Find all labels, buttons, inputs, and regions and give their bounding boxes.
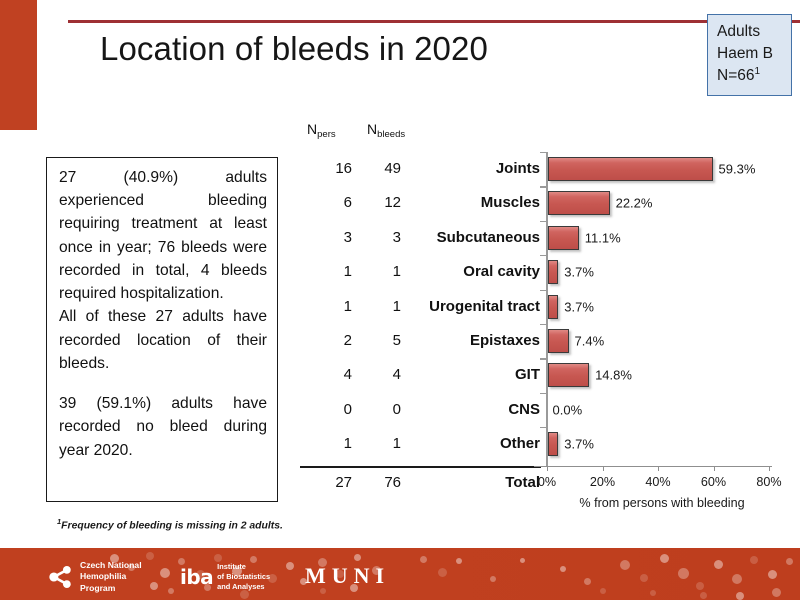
- bar-value-label: 3.7%: [564, 265, 594, 280]
- table-row: 11Other: [297, 435, 540, 469]
- slide: Location of bleeds in 2020 Adults Haem B…: [0, 0, 800, 600]
- decorative-dot: [560, 566, 566, 572]
- y-axis-tick: [540, 152, 547, 153]
- cell-npers: 0: [297, 401, 352, 418]
- bar-fill: [548, 295, 558, 319]
- bar-other: 3.7%: [548, 432, 558, 456]
- decorative-dot: [600, 588, 606, 594]
- decorative-dot: [700, 592, 707, 599]
- cell-nbleeds: 1: [359, 263, 401, 280]
- table-row: 1649Joints: [297, 160, 540, 194]
- decorative-dot: [650, 590, 656, 596]
- badge-line-2: Haem B: [717, 43, 791, 65]
- badge-line-3: N=661: [717, 65, 791, 87]
- bar-value-label: 14.8%: [595, 368, 632, 383]
- cell-category: GIT: [407, 366, 540, 383]
- bar-chart: 59.3%22.2%11.1%3.7%3.7%7.4%14.8%0.0%3.7%: [546, 152, 772, 467]
- x-axis-tick: [658, 466, 659, 471]
- table-row: 11Urogenital tract: [297, 298, 540, 332]
- accent-block: [0, 0, 37, 130]
- decorative-dot: [214, 554, 222, 562]
- logo1-line-1: Czech National: [80, 560, 142, 571]
- total-label: Total: [407, 474, 540, 491]
- logo1-line-2: Hemophilia: [80, 571, 142, 582]
- decorative-dot: [520, 558, 525, 563]
- decorative-dot: [168, 588, 174, 594]
- bar-joints: 59.3%: [548, 157, 713, 181]
- cell-npers: 2: [297, 332, 352, 349]
- bar-value-label: 11.1%: [585, 230, 621, 245]
- column-header-npers: Npers: [307, 121, 336, 137]
- bar-fill: [548, 329, 569, 353]
- logo2-line-3: and Analyses: [217, 582, 270, 592]
- bar-fill: [548, 432, 558, 456]
- logo1-text: Czech National Hemophilia Program: [80, 560, 142, 594]
- cohort-badge: Adults Haem B N=661: [707, 14, 792, 96]
- cell-category: CNS: [407, 401, 540, 418]
- x-axis-tick-label: 0%: [538, 475, 556, 489]
- decorative-dot: [420, 556, 427, 563]
- cell-category: Joints: [407, 160, 540, 177]
- bar-git: 14.8%: [548, 363, 589, 387]
- cell-nbleeds: 3: [359, 229, 401, 246]
- decorative-dot: [146, 552, 154, 560]
- footnote: 1Frequency of bleeding is missing in 2 a…: [57, 517, 283, 531]
- npers-subscript: pers: [317, 129, 335, 140]
- badge-n-value: N=66: [717, 67, 755, 84]
- bar-value-label: 59.3%: [719, 162, 756, 177]
- x-axis-tick-label: 40%: [645, 475, 670, 489]
- total-npers: 27: [297, 474, 352, 491]
- total-nbleeds: 76: [359, 474, 401, 491]
- decorative-dot: [678, 568, 689, 579]
- bar-fill: [548, 363, 589, 387]
- bar-value-label: 3.7%: [564, 437, 594, 452]
- table-row: 25Epistaxes: [297, 332, 540, 366]
- summary-paragraph-2: All of these 27 adults have recorded loc…: [59, 305, 267, 375]
- iba-wordmark: iba: [180, 565, 213, 589]
- cell-category: Oral cavity: [407, 263, 540, 280]
- bar-muscles: 22.2%: [548, 191, 610, 215]
- iba-subtitle: Institute of Biostatistics and Analyses: [217, 562, 270, 591]
- bar-subcutaneous: 11.1%: [548, 226, 579, 250]
- decorative-dot: [714, 560, 723, 569]
- logo-muni: MUNI: [305, 563, 390, 589]
- summary-paragraph-3: 39 (59.1%) adults have recorded no bleed…: [59, 392, 267, 462]
- table-row: 33Subcutaneous: [297, 229, 540, 263]
- cell-category: Urogenital tract: [407, 298, 540, 315]
- y-axis-tick: [540, 427, 547, 428]
- logo-czech-national-hemophilia-program: Czech National Hemophilia Program: [48, 560, 142, 594]
- logo2-line-2: of Biostatistics: [217, 572, 270, 582]
- decorative-dot: [150, 582, 158, 590]
- logo2-line-1: Institute: [217, 562, 270, 572]
- badge-footnote-marker: 1: [755, 66, 761, 77]
- x-axis-tick: [769, 466, 770, 471]
- molecule-icon: [48, 564, 74, 590]
- bar-fill: [548, 226, 579, 250]
- x-axis-tick-label: 80%: [756, 475, 781, 489]
- cell-nbleeds: 0: [359, 401, 401, 418]
- decorative-dot: [768, 570, 777, 579]
- decorative-dot: [584, 578, 591, 585]
- cell-nbleeds: 5: [359, 332, 401, 349]
- bar-value-label: 0.0%: [553, 402, 583, 417]
- decorative-dot: [732, 574, 742, 584]
- x-axis-tick: [603, 466, 604, 471]
- decorative-dot: [750, 556, 758, 564]
- decorative-dot: [240, 590, 249, 599]
- x-axis-tick: [714, 466, 715, 471]
- cell-nbleeds: 49: [359, 160, 401, 177]
- chart-x-axis: [534, 466, 772, 467]
- bar-urogenital-tract: 3.7%: [548, 295, 558, 319]
- table-row: 11Oral cavity: [297, 263, 540, 297]
- decorative-dot: [438, 568, 447, 577]
- bar-value-label: 7.4%: [575, 334, 605, 349]
- bar-epistaxes: 7.4%: [548, 329, 569, 353]
- x-axis-tick-label: 60%: [701, 475, 726, 489]
- cell-npers: 1: [297, 435, 352, 452]
- y-axis-tick: [540, 324, 547, 325]
- cell-nbleeds: 1: [359, 298, 401, 315]
- decorative-dot: [456, 558, 462, 564]
- cell-npers: 6: [297, 194, 352, 211]
- bar-fill: [548, 191, 610, 215]
- decorative-dot: [736, 592, 744, 600]
- title-divider: [68, 20, 800, 23]
- table-row: 44GIT: [297, 366, 540, 400]
- cell-nbleeds: 1: [359, 435, 401, 452]
- nbleeds-subscript: bleeds: [377, 129, 405, 140]
- y-axis-tick: [540, 393, 547, 394]
- cell-npers: 3: [297, 229, 352, 246]
- bar-fill: [548, 260, 558, 284]
- summary-textbox: 27 (40.9%) adults experienced bleeding r…: [46, 157, 278, 502]
- summary-paragraph-1: 27 (40.9%) adults experienced bleeding r…: [59, 166, 267, 305]
- table-row: 612Muscles: [297, 194, 540, 228]
- table-body: 1649Joints612Muscles33Subcutaneous11Oral…: [297, 160, 540, 470]
- cell-npers: 1: [297, 298, 352, 315]
- decorative-dot: [286, 562, 294, 570]
- page-title: Location of bleeds in 2020: [100, 30, 660, 68]
- y-axis-tick: [540, 186, 547, 187]
- cell-category: Other: [407, 435, 540, 452]
- bar-value-label: 22.2%: [616, 196, 653, 211]
- nbleeds-letter: N: [367, 121, 377, 137]
- footnote-text: Frequency of bleeding is missing in 2 ad…: [61, 520, 283, 531]
- bar-fill: [548, 157, 713, 181]
- chart-x-axis-title: % from persons with bleeding: [546, 496, 778, 510]
- cell-category: Subcutaneous: [407, 229, 540, 246]
- cell-npers: 4: [297, 366, 352, 383]
- cell-nbleeds: 4: [359, 366, 401, 383]
- decorative-dot: [160, 568, 170, 578]
- bar-oral-cavity: 3.7%: [548, 260, 558, 284]
- y-axis-tick: [540, 358, 547, 359]
- npers-letter: N: [307, 121, 317, 137]
- x-axis-tick-label: 20%: [590, 475, 615, 489]
- cell-category: Muscles: [407, 194, 540, 211]
- table-row: 00CNS: [297, 401, 540, 435]
- bar-value-label: 3.7%: [564, 299, 594, 314]
- x-axis-tick: [547, 466, 548, 471]
- decorative-dot: [490, 576, 496, 582]
- table-row-total: 27 76 Total: [297, 474, 540, 504]
- decorative-dot: [772, 588, 781, 597]
- badge-line-1: Adults: [717, 21, 791, 43]
- decorative-dot: [786, 558, 793, 565]
- bar-cns: 0.0%: [548, 398, 549, 422]
- y-axis-tick: [540, 221, 547, 222]
- decorative-dot: [660, 554, 669, 563]
- cell-npers: 16: [297, 160, 352, 177]
- decorative-dot: [640, 574, 648, 582]
- y-axis-tick: [540, 290, 547, 291]
- logo-iba: iba Institute of Biostatistics and Analy…: [180, 562, 270, 591]
- cell-npers: 1: [297, 263, 352, 280]
- decorative-dot: [354, 554, 361, 561]
- column-header-nbleeds: Nbleeds: [367, 121, 405, 137]
- decorative-dot: [620, 560, 630, 570]
- cell-nbleeds: 12: [359, 194, 401, 211]
- decorative-dot: [696, 582, 704, 590]
- total-divider: [300, 466, 541, 468]
- logo1-line-3: Program: [80, 583, 142, 594]
- cell-category: Epistaxes: [407, 332, 540, 349]
- y-axis-tick: [540, 255, 547, 256]
